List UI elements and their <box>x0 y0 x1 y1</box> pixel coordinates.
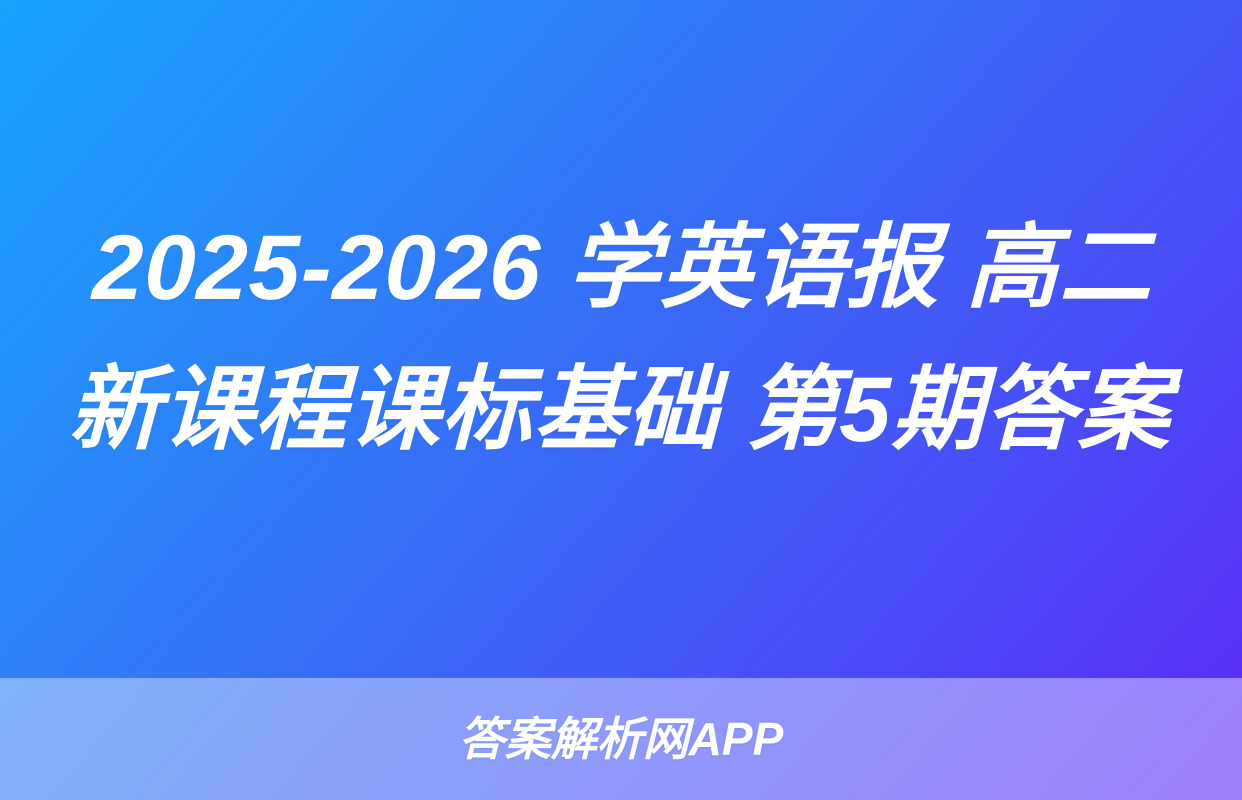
headline-region: 2025-2026 学英语报 高二 新课程课标基础 第5期答案 <box>0 0 1242 678</box>
answer-key-title-card: 2025-2026 学英语报 高二 新课程课标基础 第5期答案 答案解析网APP <box>0 0 1242 800</box>
page-title: 2025-2026 学英语报 高二 新课程课标基础 第5期答案 <box>50 197 1193 481</box>
app-watermark-label: 答案解析网APP <box>459 716 784 762</box>
watermark-band: 答案解析网APP <box>0 678 1242 800</box>
